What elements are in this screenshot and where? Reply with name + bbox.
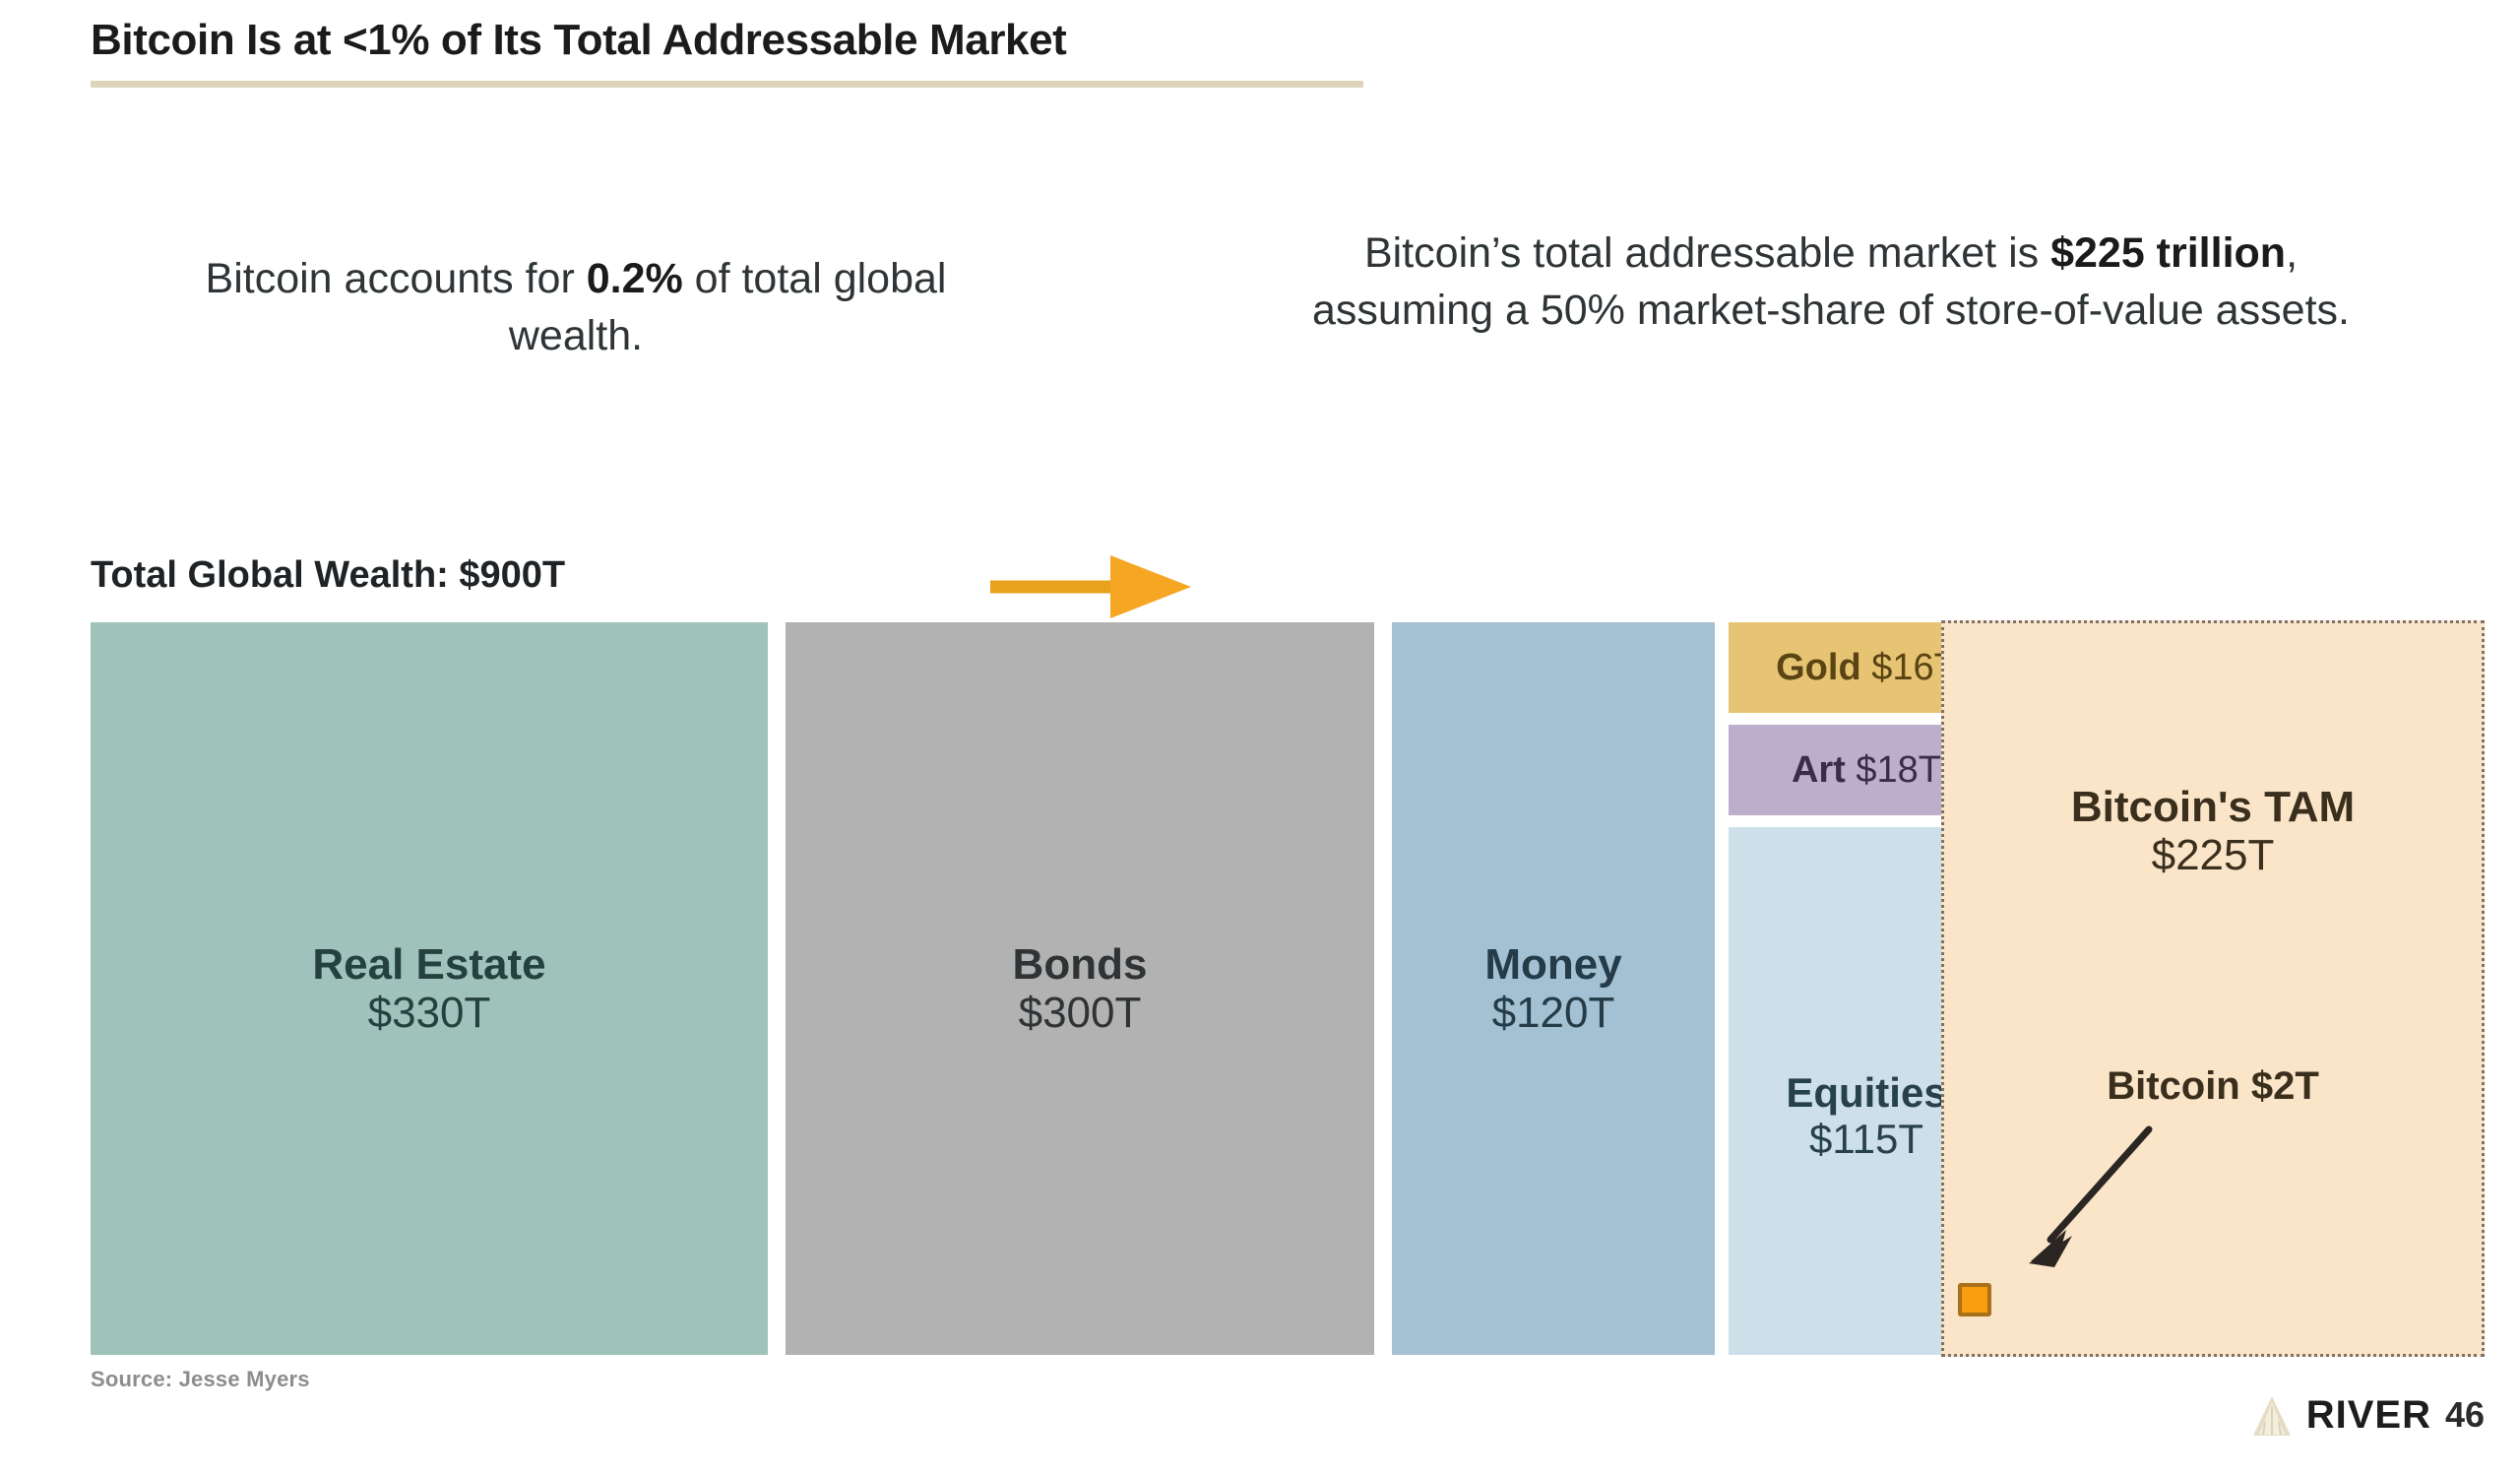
- bitcoin-square-marker[interactable]: [1958, 1283, 1991, 1316]
- treemap-block-money-value: $120T: [1484, 989, 1621, 1037]
- bitcoin-callout-name: Bitcoin: [2107, 1064, 2240, 1108]
- title-underline: [91, 81, 1363, 88]
- treemap-heading: Total Global Wealth: $900T: [91, 554, 565, 597]
- brand-bar: RIVER 46: [2251, 1392, 2485, 1438]
- arrow-down-left-icon: [2001, 1114, 2169, 1281]
- treemap-block-real-estate-text: Real Estate $330T: [312, 940, 545, 1038]
- treemap-block-bitcoin-tam-text: Bitcoin's TAM $225T: [1944, 783, 2482, 880]
- treemap-block-money[interactable]: Money $120T: [1392, 622, 1715, 1355]
- treemap-block-gold-text: Gold $16T: [1776, 647, 1957, 689]
- callout-left-emphasis: 0.2%: [587, 255, 683, 302]
- page-number: 46: [2445, 1394, 2485, 1436]
- treemap-block-equities-text: Equities $115T: [1786, 1069, 1946, 1162]
- bitcoin-callout-label: Bitcoin $2T: [1944, 1064, 2482, 1109]
- source-note: Source: Jesse Myers: [91, 1367, 310, 1392]
- page-title: Bitcoin Is at <1% of Its Total Addressab…: [91, 16, 1066, 65]
- treemap-block-art-value: $18T: [1856, 749, 1941, 791]
- treemap-block-bitcoin-tam-value: $225T: [1944, 831, 2482, 879]
- treemap-block-gold-name: Gold: [1776, 647, 1861, 688]
- treemap-block-equities-value: $115T: [1786, 1116, 1946, 1162]
- treemap-block-bonds-value: $300T: [1013, 989, 1148, 1037]
- treemap-block-real-estate-name: Real Estate: [312, 940, 545, 989]
- treemap-block-real-estate[interactable]: Real Estate $330T: [91, 622, 768, 1355]
- treemap-block-bitcoin-tam-name: Bitcoin's TAM: [1944, 783, 2482, 831]
- arrow-right-icon: [984, 549, 1201, 624]
- callout-right-emphasis: $225 trillion: [2050, 229, 2286, 277]
- callout-row: Bitcoin accounts for 0.2% of total globa…: [0, 236, 2520, 453]
- treemap-block-bonds-text: Bonds $300T: [1013, 940, 1148, 1038]
- treemap-block-art-text: Art $18T: [1792, 749, 1941, 792]
- treemap-block-money-name: Money: [1484, 940, 1621, 989]
- treemap-block-money-text: Money $120T: [1484, 940, 1621, 1038]
- bitcoin-callout-value: $2T: [2251, 1064, 2319, 1108]
- callout-right: Bitcoin’s total addressable market is $2…: [1270, 225, 2392, 339]
- callout-left: Bitcoin accounts for 0.2% of total globa…: [167, 250, 984, 364]
- treemap-block-bonds-name: Bonds: [1013, 940, 1148, 989]
- callout-left-before: Bitcoin accounts for: [206, 255, 587, 302]
- treemap-block-real-estate-value: $330T: [312, 989, 545, 1037]
- wealth-treemap: Real Estate $330T Bonds $300T Money $120…: [91, 620, 2485, 1357]
- treemap-block-bitcoin-tam[interactable]: Bitcoin's TAM $225T Bitcoin $2T: [1941, 620, 2485, 1357]
- treemap-block-bonds[interactable]: Bonds $300T: [786, 622, 1374, 1355]
- callout-right-before: Bitcoin’s total addressable market is: [1364, 229, 2050, 277]
- river-logo-icon: [2251, 1392, 2293, 1438]
- treemap-block-equities-name: Equities: [1786, 1069, 1946, 1116]
- river-wordmark: RIVER: [2306, 1393, 2431, 1438]
- treemap-block-art-name: Art: [1792, 749, 1846, 791]
